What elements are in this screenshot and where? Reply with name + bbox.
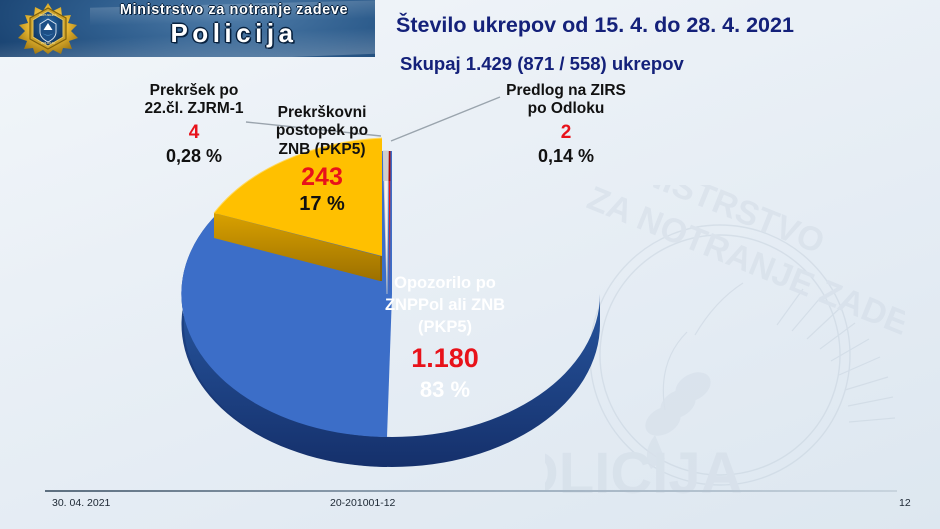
police-emblem-watermark: MINISTRSTVO ZA NOTRANJE ZADEVE POLICIJA (545, 185, 905, 515)
slice-label-opozorilo-line3: (PKP5) (330, 317, 560, 339)
footer-page-number: 12 (899, 497, 911, 509)
slice-label-opozorilo-line2: ZNPPol ali ZNB (330, 295, 560, 317)
footer-divider (45, 490, 897, 492)
police-emblem-icon: REPUBLIKA POLICIJA (12, 2, 84, 55)
slice-label-znb-line2: postopek po (258, 122, 386, 140)
slice-percent-opozorilo: 83 % (330, 377, 560, 403)
slice-label-znb-line3: ZNB (PKP5) (258, 141, 386, 159)
slice-label-zirs-line2: po Odloku (488, 100, 644, 118)
slice-value-zjrm: 4 (118, 122, 270, 144)
footer-date: 30. 04. 2021 (52, 497, 110, 509)
slice-value-znb: 243 (258, 163, 386, 193)
footer-document-code: 20-201001-12 (330, 497, 395, 509)
page-subtitle: Skupaj 1.429 (871 / 558) ukrepov (400, 53, 684, 75)
svg-text:MINISTRSTVO: MINISTRSTVO (600, 185, 830, 261)
slice-label-zjrm-line1: Prekršek po (118, 82, 270, 100)
slice-label-znb-line1: Prekrškovni (258, 104, 386, 122)
slice-percent-znb: 17 % (258, 193, 386, 217)
svg-text:REPUBLIKA: REPUBLIKA (39, 13, 57, 17)
slice-percent-zirs: 0,14 % (488, 146, 644, 167)
svg-text:POLICIJA: POLICIJA (545, 441, 743, 506)
ministry-line: Ministrstvo za notranje zadeve (96, 3, 372, 18)
slice-label-opozorilo: Opozorilo po ZNPPol ali ZNB (PKP5) 1.180… (330, 273, 560, 403)
leader-line-zirs (391, 97, 500, 141)
slice-value-opozorilo: 1.180 (330, 343, 560, 375)
page-title: Število ukrepov od 15. 4. do 28. 4. 2021 (396, 13, 794, 38)
svg-text:POLICIJA: POLICIJA (41, 41, 56, 45)
header-banner: REPUBLIKA POLICIJA Ministrstvo za notran… (0, 0, 375, 57)
slice-label-zjrm: Prekršek po 22.čl. ZJRM-1 4 0,28 % (118, 82, 270, 167)
slice-label-zirs: Predlog na ZIRS po Odloku 2 0,14 % (488, 82, 644, 167)
slice-label-opozorilo-line1: Opozorilo po (330, 273, 560, 295)
policija-line: Policija (96, 20, 372, 46)
slice-label-zirs-line1: Predlog na ZIRS (488, 82, 644, 100)
slice-label-znb: Prekrškovni postopek po ZNB (PKP5) 243 1… (258, 104, 386, 217)
svg-text:ZA NOTRANJE ZADEVE: ZA NOTRANJE ZADEVE (582, 185, 905, 360)
banner-title-block: Ministrstvo za notranje zadeve Policija (96, 3, 372, 46)
slice-label-zjrm-line2: 22.čl. ZJRM-1 (118, 100, 270, 118)
slice-value-zirs: 2 (488, 122, 644, 144)
slice-percent-zjrm: 0,28 % (118, 146, 270, 167)
pie-chart (0, 0, 940, 529)
